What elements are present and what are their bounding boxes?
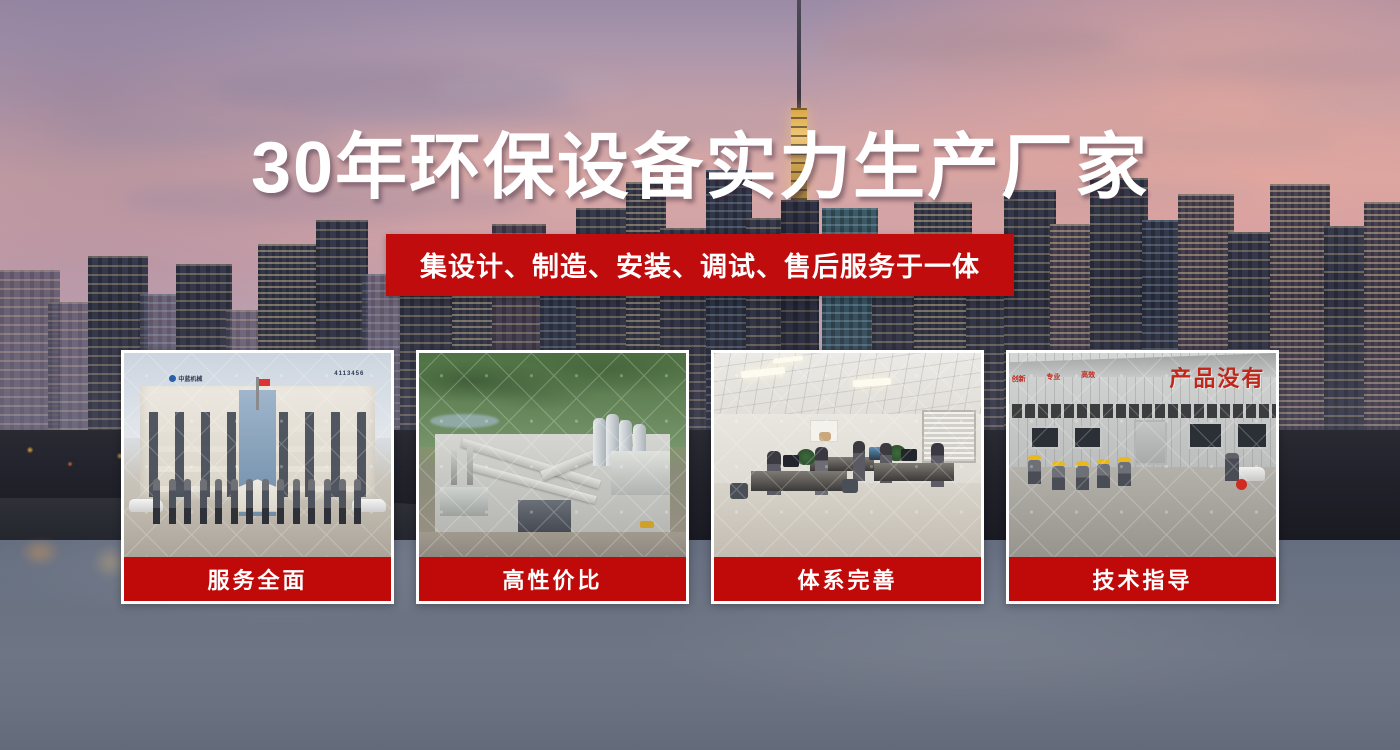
card-photo-industrial-plant	[419, 353, 686, 557]
card-photo-workers-training: 产品没有 创新 专业 高效	[1009, 353, 1276, 557]
worker	[1076, 461, 1089, 490]
card-caption: 技术指导	[1009, 557, 1276, 601]
subtitle-banner: 集设计、制造、安装、调试、售后服务于一体	[386, 234, 1014, 296]
building-phone-number: 4113456	[334, 371, 364, 377]
feature-card-row: 中蓝机械 4113456	[121, 350, 1279, 604]
worker	[1118, 457, 1131, 486]
factory-wall-slogan-small: 专业	[1046, 373, 1060, 383]
wall-poster	[810, 420, 838, 442]
card-caption: 服务全面	[124, 557, 391, 601]
staff-line	[153, 479, 361, 524]
tower-spire	[797, 0, 801, 110]
card-photo-headquarters: 中蓝机械 4113456	[124, 353, 391, 557]
logo-text: 中蓝机械	[178, 374, 202, 383]
card-caption: 高性价比	[419, 557, 686, 601]
banner-stage: 30年环保设备实力生产厂家 集设计、制造、安装、调试、售后服务于一体 中蓝机械 …	[0, 0, 1400, 750]
card-caption: 体系完善	[714, 557, 981, 601]
factory-wall-slogan-small: 创新	[1012, 375, 1026, 385]
feature-card[interactable]: 中蓝机械 4113456	[121, 350, 394, 604]
subtitle-banner-wrap: 集设计、制造、安装、调试、售后服务于一体	[0, 234, 1400, 296]
red-helmet-icon	[1236, 479, 1247, 490]
factory-wall-slogan-small: 高效	[1081, 371, 1095, 381]
feature-card[interactable]: 产品没有 创新 专业 高效	[1006, 350, 1279, 604]
factory-wall-slogan: 产品没有	[1169, 361, 1265, 393]
worker	[1052, 461, 1065, 490]
page-title: 30年环保设备实力生产厂家	[0, 132, 1400, 204]
supervisor	[1225, 453, 1239, 481]
building-logo: 中蓝机械	[169, 371, 249, 385]
card-photo-office-interior	[714, 353, 981, 557]
logo-mark-icon	[169, 375, 176, 382]
flag-icon	[256, 377, 259, 410]
worker	[1097, 459, 1110, 488]
worker	[1028, 455, 1041, 484]
feature-card[interactable]: 体系完善	[711, 350, 984, 604]
feature-card[interactable]: 高性价比	[416, 350, 689, 604]
